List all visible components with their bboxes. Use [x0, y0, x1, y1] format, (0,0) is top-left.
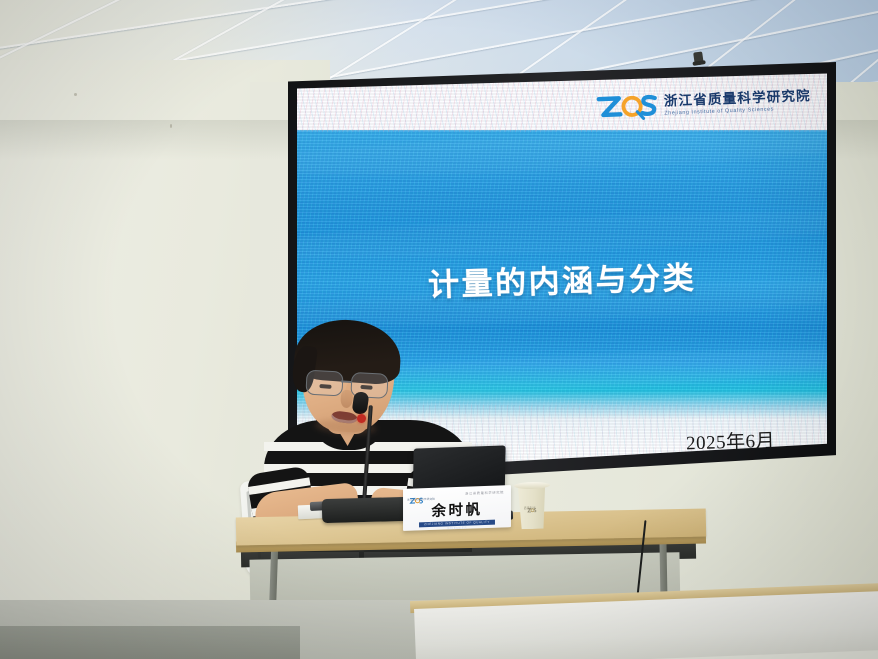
placard-header-text: 浙江省质量科学研究院: [465, 489, 504, 495]
floor-shadow: [0, 626, 300, 659]
zqs-logo-icon: [596, 93, 659, 122]
eyeglasses-icon: [305, 370, 398, 399]
wall-mark: [74, 93, 77, 96]
slide-logo-text: 浙江省质量科学研究院 Zhejiang Institute of Quality…: [664, 90, 812, 117]
placard-name-text: 余时帆: [403, 497, 511, 522]
microphone-base: [322, 497, 409, 523]
wall-mark: [170, 124, 172, 128]
paper-cup-logo-icon: [527, 500, 537, 505]
presentation-room-photo: 浙江省质量科学研究院 Zhejiang Institute of Quality…: [0, 0, 878, 659]
microphone-indicator-icon: [357, 414, 366, 423]
eyeglass-lens: [305, 370, 343, 397]
paper-cup-text: 质量科学: [524, 506, 536, 510]
name-placard: 浙江省质量科学研究院 浙江省质量科学研究院 余时帆 ZHEJIANG INSTI…: [403, 485, 511, 531]
